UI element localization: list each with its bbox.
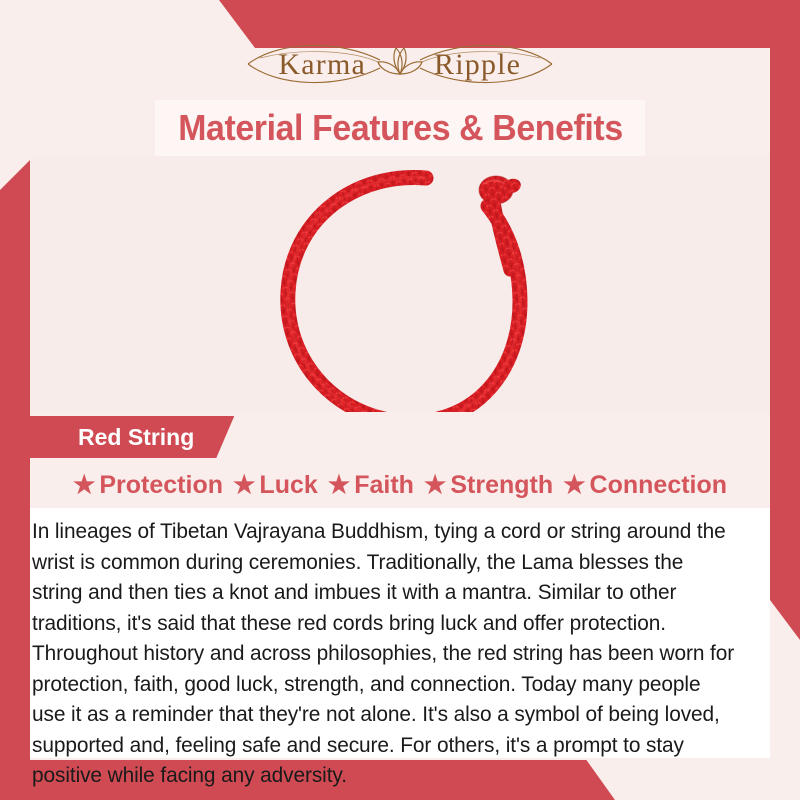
top-right-red-band <box>0 0 800 48</box>
material-tag: Red String <box>30 416 234 458</box>
benefit-label: Connection <box>590 473 728 498</box>
benefit-label: Faith <box>354 473 414 498</box>
red-string-bracelet-photo <box>248 156 568 412</box>
material-tag-label: Red String <box>78 426 194 449</box>
benefit-label: Protection <box>99 473 223 498</box>
infographic-page: Karma Ripple Material Features & Benefit… <box>0 0 800 800</box>
benefits-row: ★ Protection ★ Luck ★ Faith ★ Strength ★… <box>30 466 770 504</box>
star-icon: ★ <box>563 473 585 498</box>
benefit-item-faith: ★ Faith <box>328 473 414 498</box>
right-red-band <box>770 0 800 640</box>
hero-image-area <box>30 156 770 412</box>
star-icon: ★ <box>73 473 95 498</box>
benefit-item-protection: ★ Protection <box>73 473 223 498</box>
bracelet-knot <box>479 176 523 204</box>
description-block: In lineages of Tibetan Vajrayana Buddhis… <box>30 508 770 758</box>
star-icon: ★ <box>424 473 446 498</box>
left-red-band <box>0 160 30 800</box>
benefit-item-strength: ★ Strength <box>424 473 553 498</box>
benefit-label: Luck <box>259 473 317 498</box>
page-title: Material Features & Benefits <box>178 110 623 146</box>
star-icon: ★ <box>233 473 255 498</box>
description-text: In lineages of Tibetan Vajrayana Buddhis… <box>32 516 734 791</box>
star-icon: ★ <box>328 473 350 498</box>
benefit-item-luck: ★ Luck <box>233 473 318 498</box>
title-banner: Material Features & Benefits <box>155 100 645 156</box>
benefit-item-connection: ★ Connection <box>563 473 727 498</box>
benefit-label: Strength <box>450 473 553 498</box>
